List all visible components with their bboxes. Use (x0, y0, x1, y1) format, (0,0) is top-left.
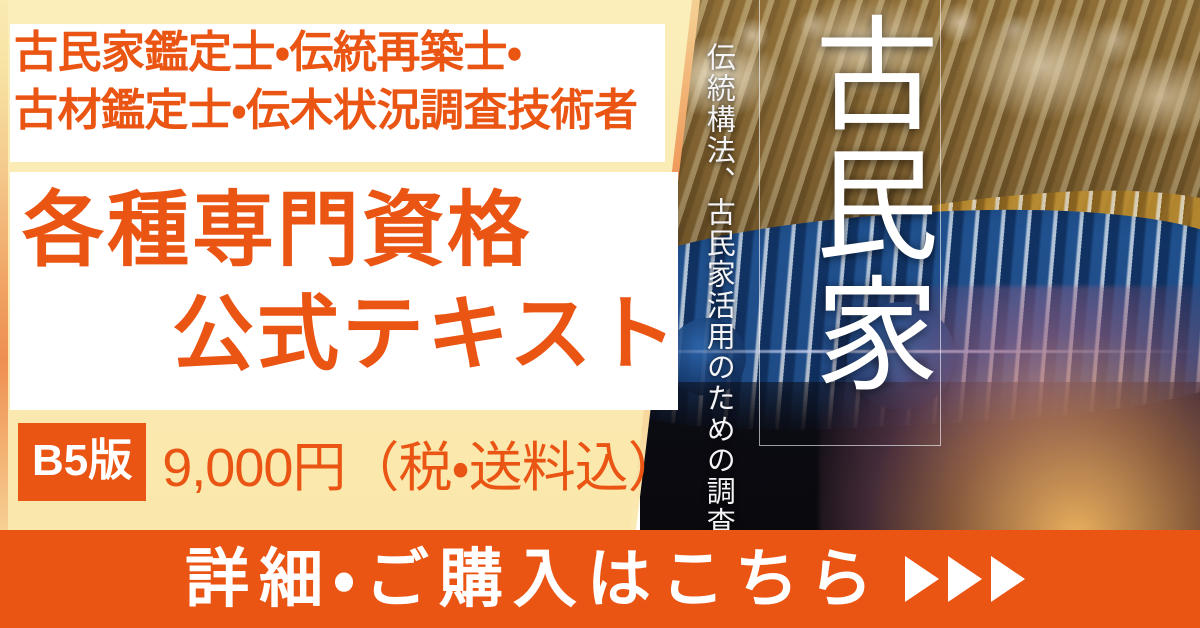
price-row: B5版 9,000円（税・送料込） (0, 424, 700, 500)
certifications-line-1: 古民家鑑定士・伝統再築士・ (14, 24, 654, 82)
book-cover-subtitle: 伝統構法、古民家活用のための調査と再生の (700, 42, 736, 562)
headline-line-2: 公式テキスト (172, 294, 680, 376)
headline-line-1: 各種専門資格 (22, 190, 532, 272)
chevron-right-icon (991, 556, 1025, 602)
cta-arrow-group (905, 556, 1025, 602)
certifications-text: 古民家鑑定士・伝統再築士・ 古材鑑定士・伝木状況調査技術者 (14, 24, 654, 140)
chevron-right-icon (948, 556, 982, 602)
certifications-line-2: 古材鑑定士・伝木状況調査技術者 (14, 82, 654, 140)
format-badge: B5版 (18, 423, 146, 501)
promo-banner: 古民家 伝統構法、古民家活用のための調査と再生の 古民家鑑定士・伝統再築士・ 古… (0, 0, 1200, 628)
book-cover-title: 古民家 (770, 10, 930, 430)
cta-label: 詳細・ご購入はこちら (175, 547, 883, 611)
cta-bar[interactable]: 詳細・ご購入はこちら (0, 530, 1200, 628)
price-amount: 9,000円（税・送料込） (162, 423, 681, 502)
chevron-right-icon (905, 556, 939, 602)
